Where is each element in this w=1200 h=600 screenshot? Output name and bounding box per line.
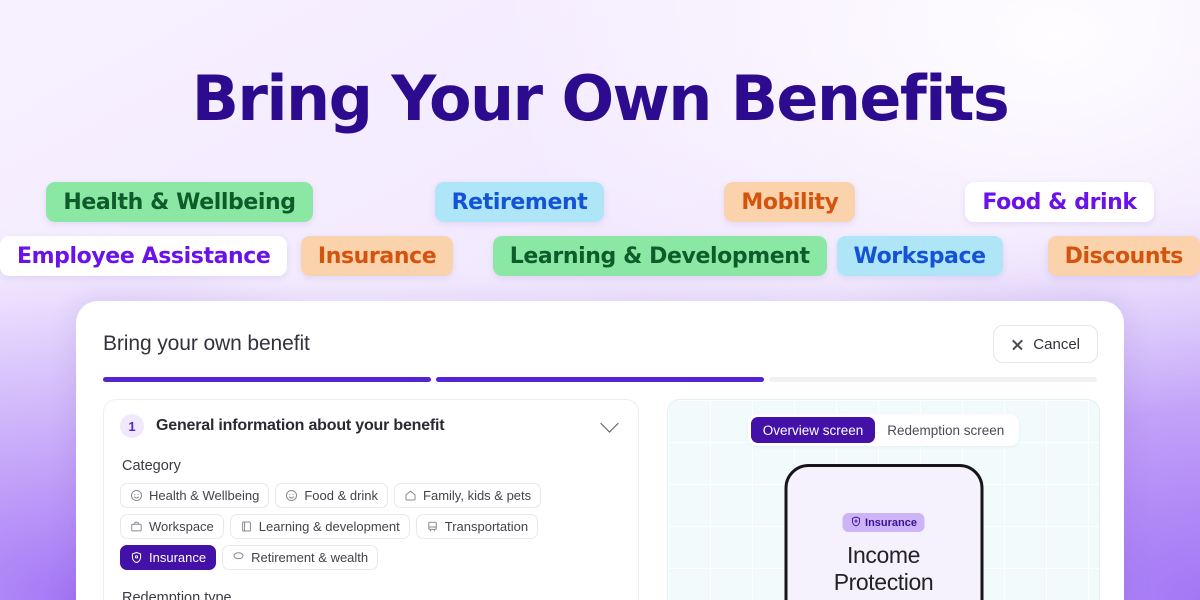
redemption-type-label: Redemption type [122, 590, 622, 600]
category-chip-label: Workspace [149, 519, 214, 534]
category-pill-cloud: Health & WellbeingRetirementMobilityFood… [0, 182, 1200, 276]
category-chip[interactable]: Insurance [120, 545, 216, 570]
pill-spacer [1003, 236, 1048, 276]
category-chip-label: Food & drink [304, 488, 378, 503]
category-chip[interactable]: Food & drink [275, 483, 388, 508]
category-pill[interactable]: Food & drink [965, 182, 1153, 222]
category-pill[interactable]: Insurance [301, 236, 453, 276]
card-title: Bring your own benefit [103, 332, 310, 356]
progress-segment [769, 377, 1097, 382]
category-chip-group: Health & WellbeingFood & drinkFamily, ki… [120, 483, 622, 570]
phone-benefit-title: IncomeProtection [834, 542, 934, 595]
card-header: Bring your own benefit Cancel [76, 301, 1124, 363]
category-chip-label: Insurance [149, 550, 206, 565]
category-pill[interactable]: Discounts [1048, 236, 1200, 276]
category-chip[interactable]: Workspace [120, 514, 224, 539]
category-pill[interactable]: Learning & Development [493, 236, 827, 276]
pill-spacer [827, 236, 837, 276]
book-icon [240, 520, 253, 533]
wizard-progress-bar [103, 377, 1097, 382]
preview-tab[interactable]: Redemption screen [875, 417, 1016, 443]
phone-benefit-title-line: Income [834, 542, 934, 569]
category-chip[interactable]: Learning & development [230, 514, 410, 539]
progress-segment [103, 377, 431, 382]
category-chip[interactable]: Transportation [416, 514, 538, 539]
step-header[interactable]: 1 General information about your benefit [120, 414, 622, 438]
general-information-panel: 1 General information about your benefit… [103, 399, 639, 600]
shield-icon [130, 551, 143, 564]
phone-mockup: Insurance IncomeProtection [784, 464, 983, 600]
preview-screen-toggle: Overview screenRedemption screen [748, 414, 1020, 446]
phone-category-badge-label: Insurance [865, 517, 917, 529]
category-chip-label: Family, kids & pets [423, 488, 531, 503]
page-title: Bring Your Own Benefits [0, 62, 1200, 135]
category-pill[interactable]: Health & Wellbeing [46, 182, 312, 222]
category-pill[interactable]: Retirement [435, 182, 605, 222]
progress-segment [436, 377, 764, 382]
smiley-icon [285, 489, 298, 502]
category-pill[interactable]: Workspace [837, 236, 1003, 276]
category-chip[interactable]: Family, kids & pets [394, 483, 541, 508]
pill-row-top: Health & WellbeingRetirementMobilityFood… [0, 182, 1200, 222]
category-chip-label: Health & Wellbeing [149, 488, 259, 503]
home-icon [404, 489, 417, 502]
preview-tab[interactable]: Overview screen [751, 417, 876, 443]
category-chip[interactable]: Health & Wellbeing [120, 483, 269, 508]
category-pill[interactable]: Mobility [724, 182, 855, 222]
step-title: General information about your benefit [156, 417, 591, 435]
step-number-badge: 1 [120, 414, 144, 438]
bus-icon [426, 520, 439, 533]
pill-spacer [604, 182, 724, 222]
smiley-icon [130, 489, 143, 502]
pill-spacer [287, 236, 300, 276]
close-icon [1011, 338, 1024, 351]
category-chip-label: Transportation [445, 519, 528, 534]
benefit-preview-panel: Overview screenRedemption screen Insuran… [667, 399, 1100, 600]
chevron-down-icon[interactable] [600, 414, 618, 432]
phone-benefit-title-line: Protection [834, 569, 934, 596]
card-body: 1 General information about your benefit… [76, 382, 1124, 600]
category-pill[interactable]: Employee Assistance [0, 236, 287, 276]
pill-spacer [855, 182, 965, 222]
category-chip-label: Learning & development [259, 519, 400, 534]
pill-spacer [313, 182, 435, 222]
pill-row-bottom: Employee AssistanceInsuranceLearning & D… [0, 236, 1200, 276]
cancel-button-label: Cancel [1033, 336, 1080, 353]
cancel-button[interactable]: Cancel [993, 325, 1098, 363]
category-label: Category [122, 458, 622, 474]
benefit-wizard-card: Bring your own benefit Cancel 1 General … [76, 301, 1124, 600]
briefcase-icon [130, 520, 143, 533]
category-chip-label: Retirement & wealth [251, 550, 368, 565]
pill-spacer [453, 236, 493, 276]
phone-category-badge: Insurance [842, 513, 925, 532]
shield-icon [850, 516, 861, 530]
coin-icon [232, 551, 245, 564]
category-chip[interactable]: Retirement & wealth [222, 545, 378, 570]
